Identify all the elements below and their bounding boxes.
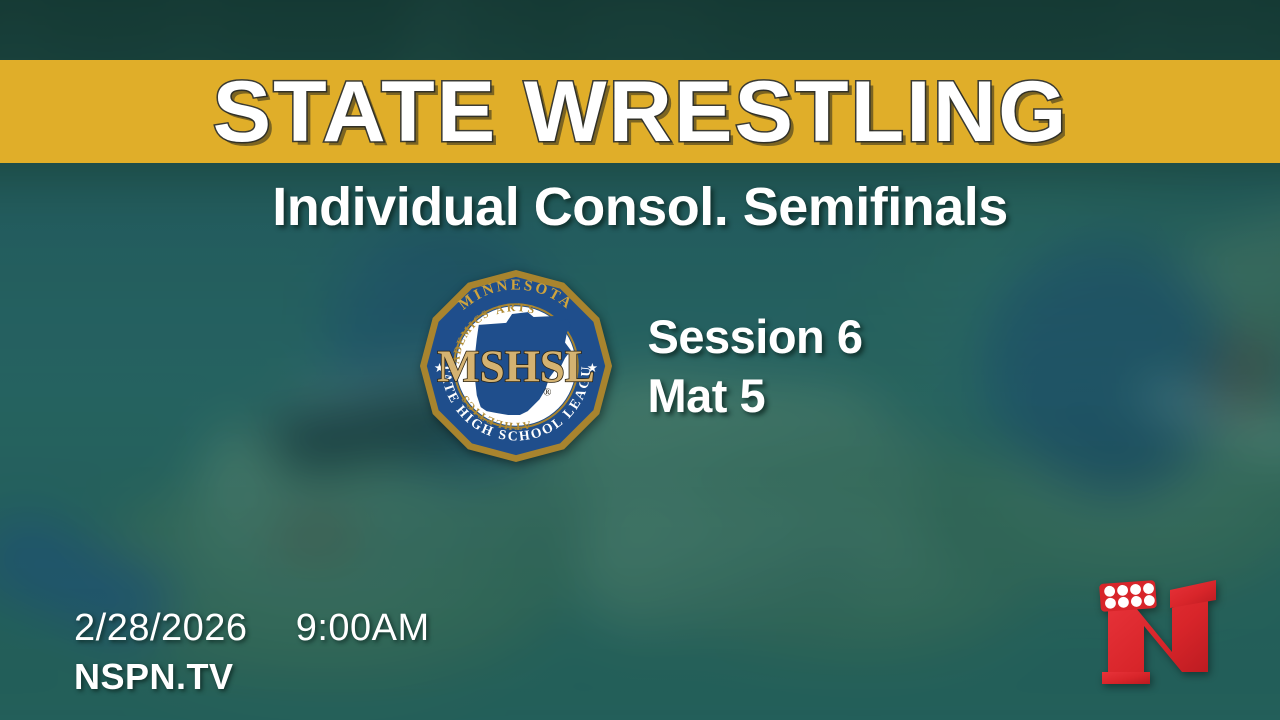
event-datetime: 2/28/2026 9:00AM [74,607,430,650]
stadium-light-icon [1099,580,1157,612]
event-details-row: MINNESOTA STATE HIGH SCHOOL LEAGUE ARTS … [0,268,1280,464]
page-title: STATE WRESTLING [212,69,1068,155]
mshsl-logo: MINNESOTA STATE HIGH SCHOOL LEAGUE ARTS … [418,268,614,464]
footer-info: 2/28/2026 9:00AM NSPN.TV [74,607,430,698]
stream-title-card: STATE WRESTLING Individual Consol. Semif… [0,0,1280,720]
event-date: 2/28/2026 [74,607,248,649]
title-banner: STATE WRESTLING [0,60,1280,163]
website-label: NSPN.TV [74,656,430,698]
mshsl-wordmark: MSHSL [437,342,595,392]
session-info: Session 6 Mat 5 [648,308,863,425]
registered-mark-icon: ® [543,386,551,398]
mat-label: Mat 5 [648,367,863,424]
event-subtitle: Individual Consol. Semifinals [0,176,1280,238]
event-time: 9:00AM [296,607,430,649]
nspn-logo [1096,572,1228,690]
session-label: Session 6 [648,308,863,365]
